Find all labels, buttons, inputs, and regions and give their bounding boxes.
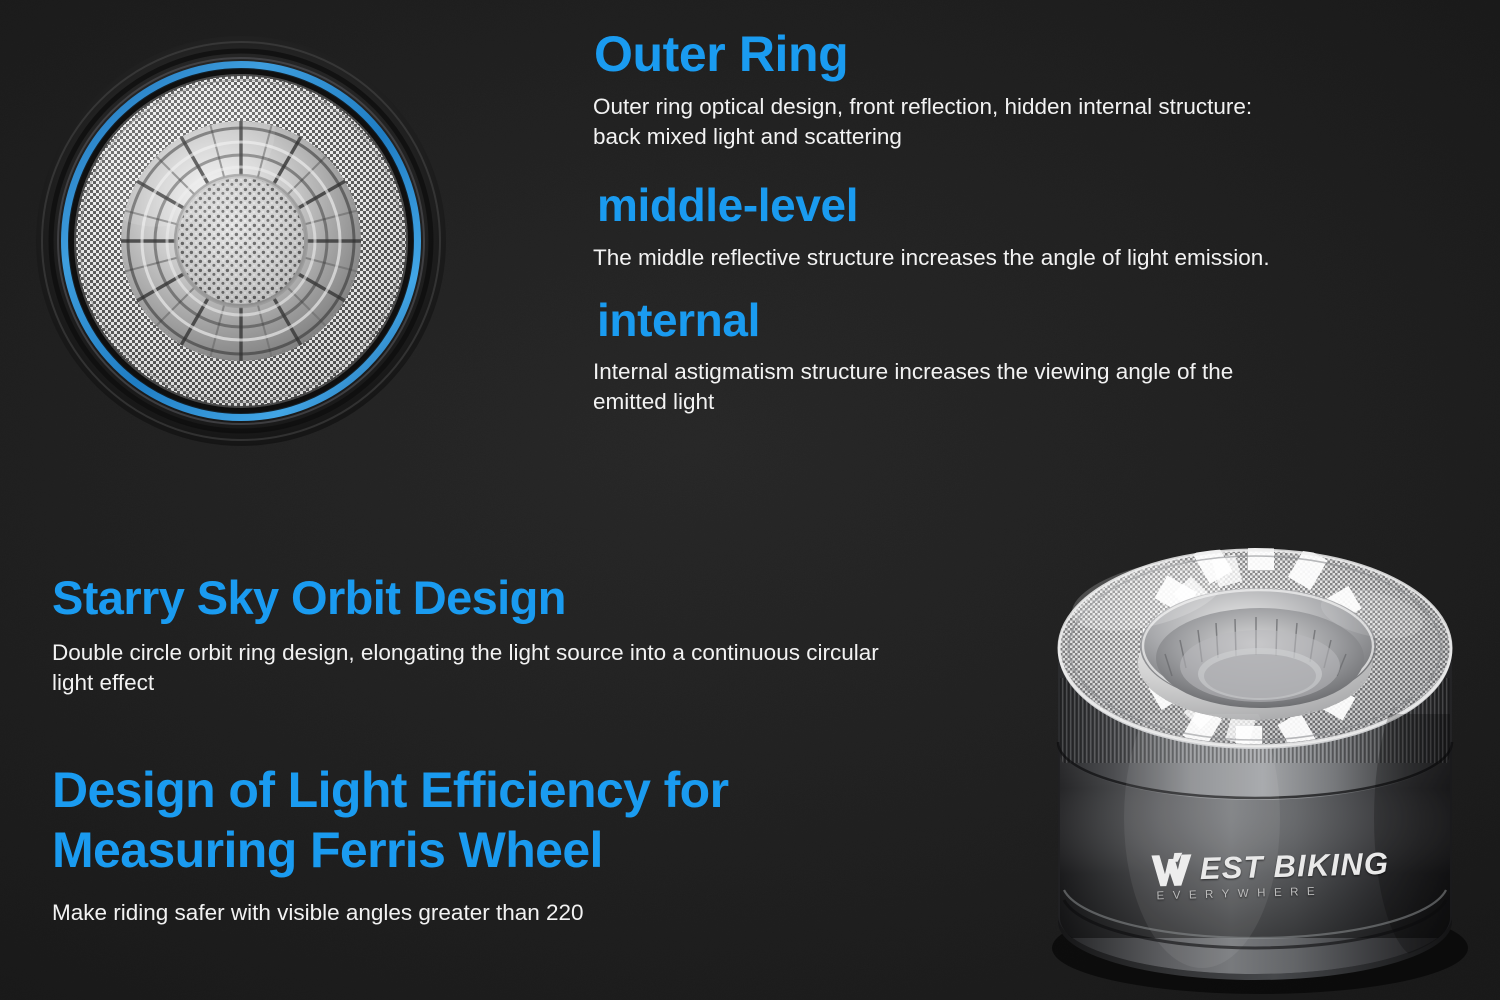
section-heading-starry-sky: Starry Sky Orbit Design [52,572,932,624]
feature-body-internal: Internal astigmatism structure increases… [593,357,1273,417]
section-light-efficiency: Design of Light Efficiency for Measuring… [52,760,932,928]
feature-outer-ring: Outer Ring Outer ring optical design, fr… [591,26,1291,152]
feature-list: Outer Ring Outer ring optical design, fr… [591,26,1291,419]
feature-body-middle-level: The middle reflective structure increase… [593,243,1273,273]
section-body-light-efficiency: Make riding safer with visible angles gr… [52,898,932,928]
feature-heading-internal: internal [597,293,1291,347]
led-lens-closeup-image [36,16,446,476]
section-body-starry-sky: Double circle orbit ring design, elongat… [52,638,882,698]
feature-heading-middle-level: middle-level [597,178,1291,232]
feature-middle-level: middle-level The middle reflective struc… [591,178,1291,272]
section-list: Starry Sky Orbit Design Double circle or… [52,572,932,927]
product-feature-page: Outer Ring Outer ring optical design, fr… [0,0,1500,1000]
section-heading-light-efficiency: Design of Light Efficiency for Measuring… [52,760,882,880]
bike-light-product-image: EST BIKING EVERYWHERE [1020,518,1490,996]
feature-internal: internal Internal astigmatism structure … [591,293,1291,418]
section-starry-sky: Starry Sky Orbit Design Double circle or… [52,572,932,698]
feature-body-outer-ring: Outer ring optical design, front reflect… [593,92,1273,152]
feature-heading-outer-ring: Outer Ring [594,26,1291,82]
